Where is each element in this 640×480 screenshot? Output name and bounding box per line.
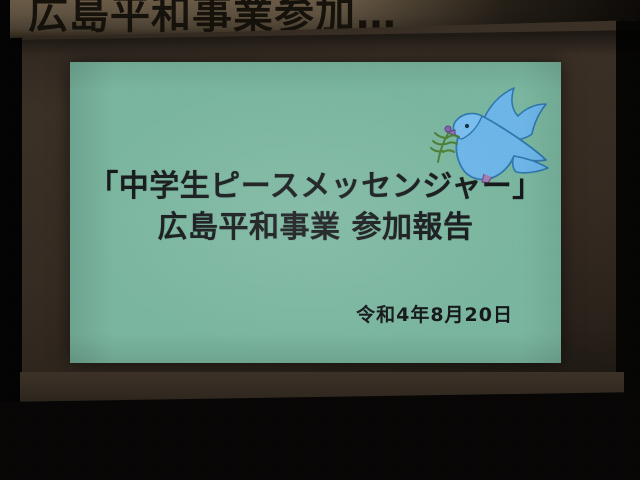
presentation-slide: 「中学生ピースメッセンジャー」 広島平和事業 参加報告 令和4年8月20日: [70, 62, 561, 363]
projected-slide-photo: 広島平和事業参加…: [0, 0, 640, 480]
slide-date: 令和4年8月20日: [356, 300, 513, 327]
slide-title: 「中学生ピースメッセンジャー」 広島平和事業 参加報告: [70, 166, 561, 248]
foreground-shadow: [0, 392, 640, 480]
slide-title-line-2: 広島平和事業 参加報告: [70, 207, 561, 248]
slide-title-line-1: 「中学生ピースメッセンジャー」: [70, 166, 561, 207]
